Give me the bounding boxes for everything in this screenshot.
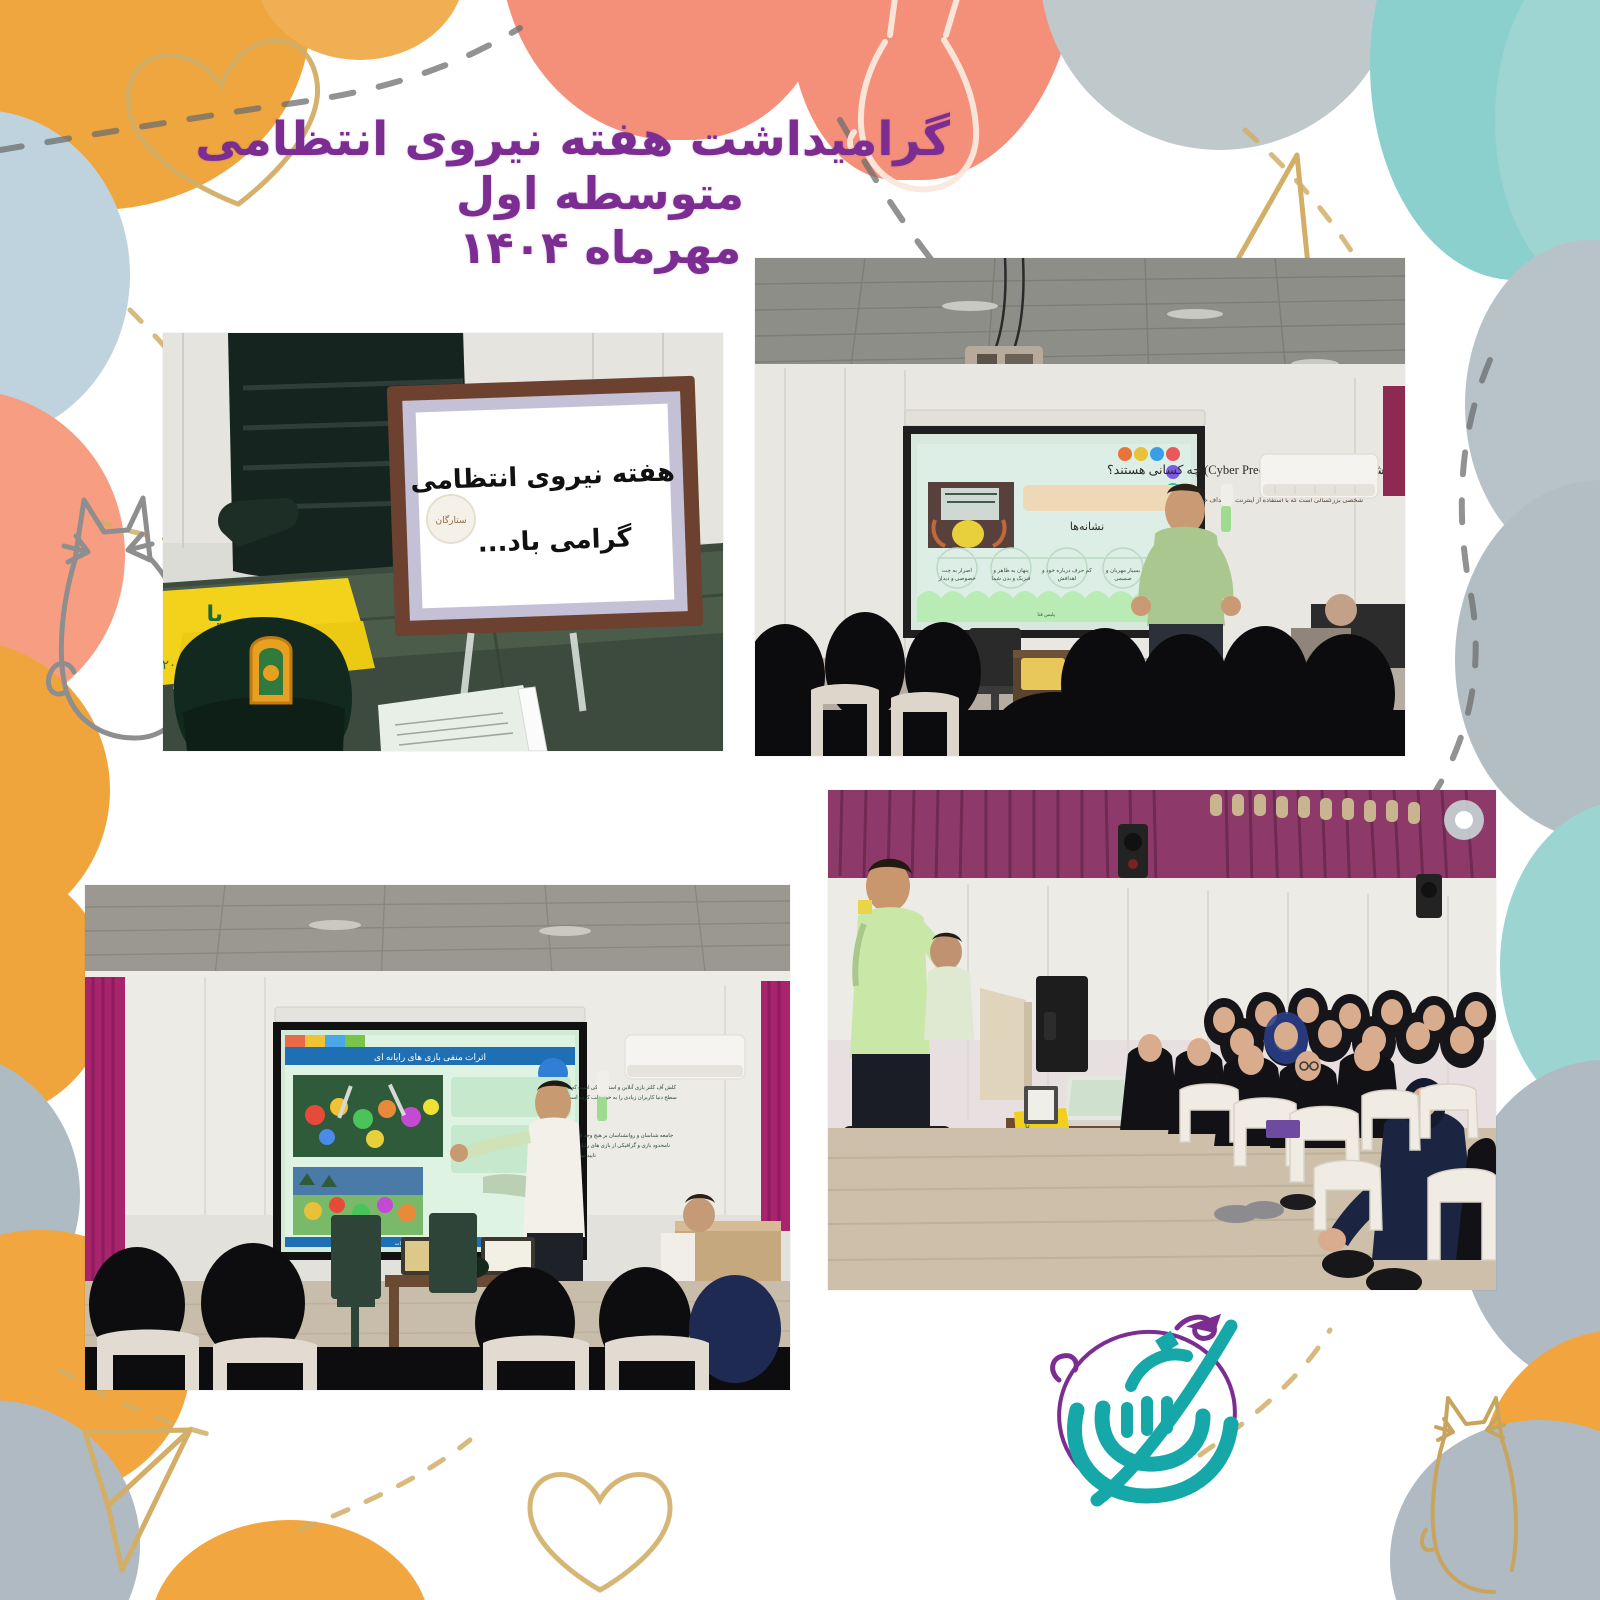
svg-text:جامعه شناسان و روانشناسان بر ه: جامعه شناسان و روانشناسان بر هیچ وجه است… xyxy=(565,1133,673,1139)
svg-text:نشانه‌ها: نشانه‌ها xyxy=(1070,521,1104,533)
svg-text:پلیس فتا: پلیس فتا xyxy=(1037,612,1055,618)
svg-text:کم حرف درباره خود و: کم حرف درباره خود و xyxy=(1041,567,1092,574)
title-line-2: متوسطه اول xyxy=(250,167,950,220)
blob-gray-top-right xyxy=(1040,0,1400,150)
blob-gray-right xyxy=(1455,480,1600,840)
photo-audience-hall: یا xyxy=(828,790,1496,1290)
svg-text:اصرار به چت: اصرار به چت xyxy=(942,567,972,574)
svg-text:یا: یا xyxy=(206,602,223,627)
svg-text:ستارگان: ستارگان xyxy=(436,514,467,526)
photo-framed-sign: یا ۴۴۲۰۵ هفته نیروی انتظامی گرامی باد...… xyxy=(163,333,723,751)
svg-text:صمیمی: صمیمی xyxy=(1114,576,1132,582)
svg-text:خصوصی و دیدار: خصوصی و دیدار xyxy=(937,575,976,582)
svg-text:پنهان به ظاهر و: پنهان به ظاهر و xyxy=(992,567,1029,574)
svg-text:گرامی باد...: گرامی باد... xyxy=(477,522,633,558)
svg-text:اثرات منفی بازی های رایانه ای: اثرات منفی بازی های رایانه ای xyxy=(374,1052,486,1063)
svg-text:اهدافش: اهدافش xyxy=(1058,575,1077,582)
setaregan-logo xyxy=(1035,1290,1265,1520)
page-title: گرامیداشت هفته نیروی انتظامی متوسطه اول … xyxy=(250,112,950,274)
title-line-3: مهرماه ۱۴۰۴ xyxy=(250,221,950,274)
svg-text:سطح دنیا کاربران زیادی را به خ: سطح دنیا کاربران زیادی را به خود جلب کرد… xyxy=(565,1095,677,1101)
svg-text:بسیار مهربان و: بسیار مهربان و xyxy=(1105,567,1141,574)
poster-canvas: گرامیداشت هفته نیروی انتظامی متوسطه اول … xyxy=(0,0,1600,1600)
svg-text:فیزیک و بدن شما: فیزیک و بدن شما xyxy=(991,575,1030,582)
svg-text:نامحدود بازی و گرافیکی از بازی: نامحدود بازی و گرافیکی از بازی های رایان… xyxy=(565,1142,670,1149)
photo-lecture-cyber-predator: شکارچیان سایبری (Cyber Predator) چه کسان… xyxy=(755,258,1405,756)
blob-orange-bottom-center xyxy=(150,1520,430,1600)
svg-text:کلش آف کلنز بازی آنلاین و استر: کلش آف کلنز بازی آنلاین و استراتژیکی است… xyxy=(564,1084,677,1091)
title-line-1: گرامیداشت هفته نیروی انتظامی xyxy=(250,112,950,167)
photo-lecture-computer-games: اثرات منفی بازی های رایانه ای کلش آف کلن… xyxy=(85,885,790,1390)
blob-gray-bottom-right xyxy=(1390,1420,1600,1600)
